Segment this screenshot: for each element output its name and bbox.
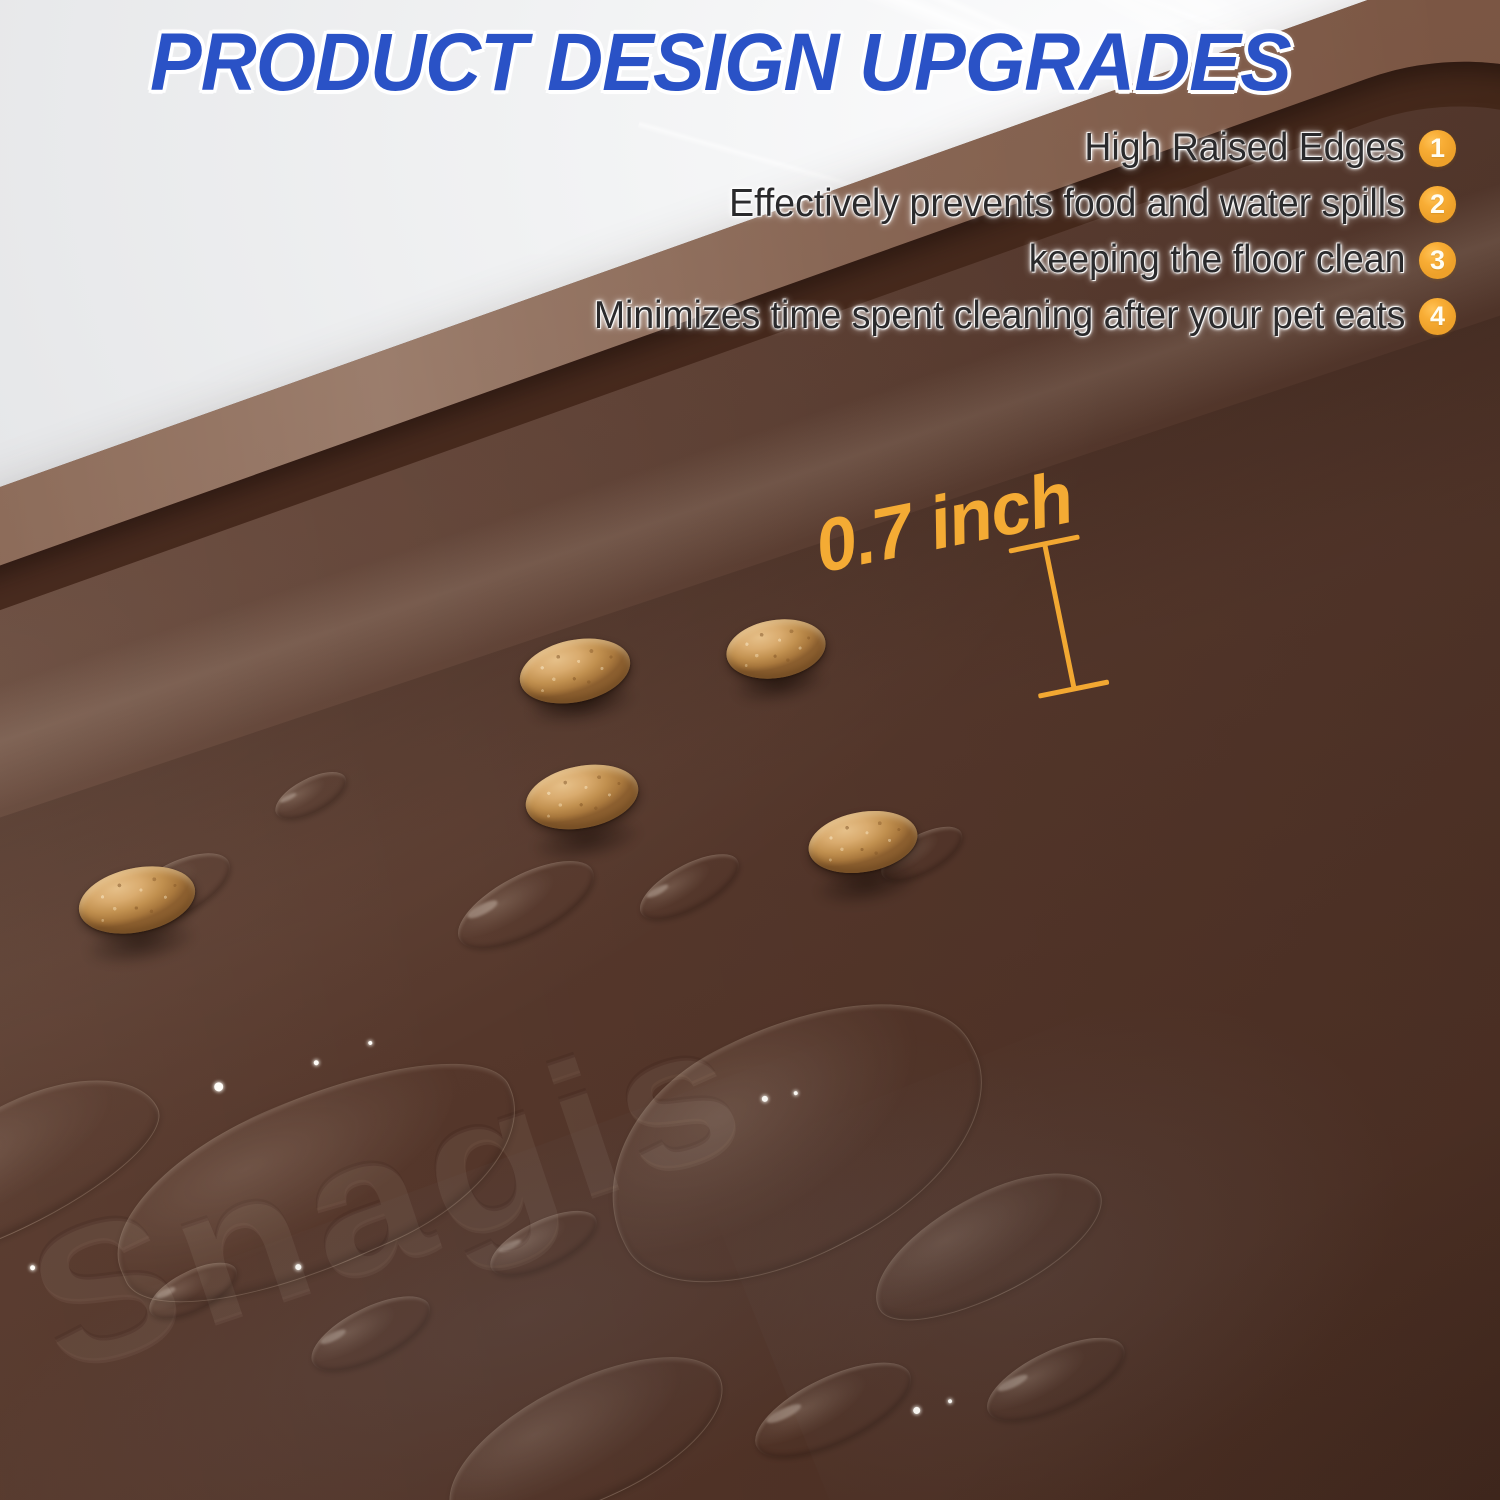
feature-number-badge: 2 xyxy=(1419,186,1456,223)
feature-number-badge: 4 xyxy=(1419,298,1456,335)
product-marketing-image: Snagis xyxy=(0,0,1500,1500)
feature-item-1: High Raised Edges 1 xyxy=(1071,126,1456,170)
feature-label: High Raised Edges xyxy=(1084,126,1405,170)
feature-item-2: Effectively prevents food and water spil… xyxy=(701,182,1456,226)
feature-item-3: keeping the floor clean 3 xyxy=(1013,238,1456,282)
feature-number-badge: 3 xyxy=(1419,242,1456,279)
feature-label: keeping the floor clean xyxy=(1028,238,1405,282)
feature-label: Minimizes time spent cleaning after your… xyxy=(593,294,1405,338)
page-title-text: PRODUCT DESIGN UPGRADES xyxy=(150,17,1291,108)
feature-item-4: Minimizes time spent cleaning after your… xyxy=(560,294,1456,338)
feature-list: High Raised Edges 1 Effectively prevents… xyxy=(296,126,1456,338)
feature-label: Effectively prevents food and water spil… xyxy=(729,182,1405,226)
page-title: PRODUCT DESIGN UPGRADES xyxy=(150,22,1407,104)
feature-number-badge: 1 xyxy=(1419,130,1456,167)
dimension-line-vertical xyxy=(1042,543,1077,691)
